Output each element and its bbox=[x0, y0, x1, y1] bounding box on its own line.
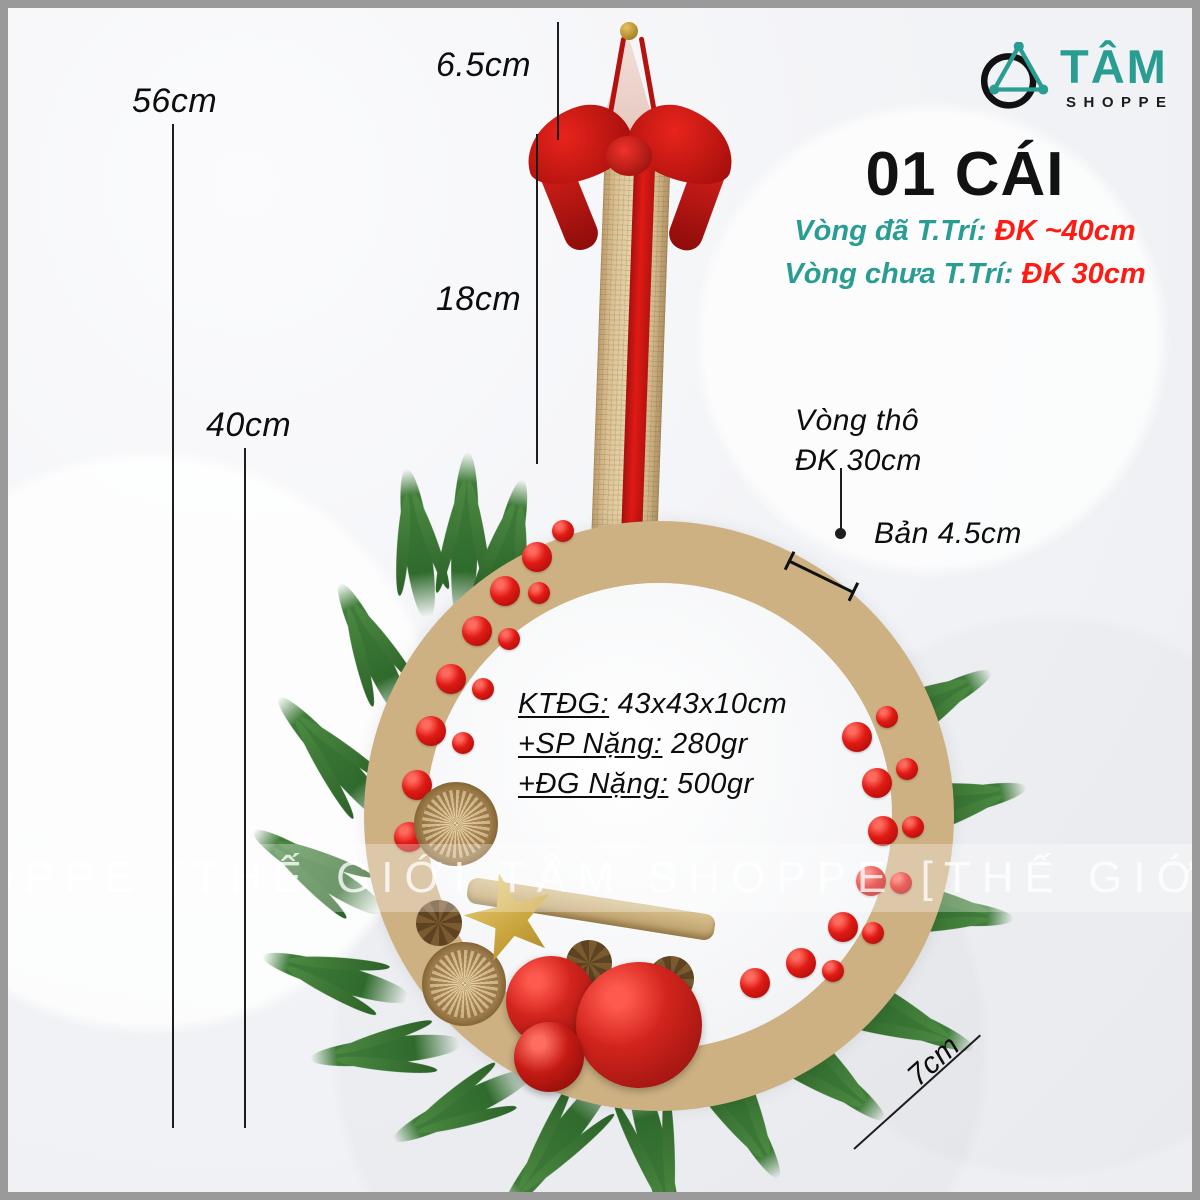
spec-key-product-weight: +SP Nặng: bbox=[518, 728, 663, 760]
spec-decorated-ring: Vòng đã T.Trí: ĐK ~40cm bbox=[730, 210, 1200, 253]
label-wreath-diameter: 40cm bbox=[206, 406, 291, 445]
foliage-sprig bbox=[388, 1062, 534, 1151]
measure-line-wreath-diameter bbox=[244, 448, 246, 1128]
label-total-height: 56cm bbox=[132, 82, 217, 121]
spec-key-dimensions: KTĐG: bbox=[518, 688, 609, 720]
berry bbox=[862, 922, 884, 944]
measure-line-total-height bbox=[172, 124, 174, 1128]
berry bbox=[472, 678, 494, 700]
berry bbox=[822, 960, 844, 982]
berry bbox=[868, 816, 898, 846]
red-bauble-large bbox=[576, 962, 702, 1088]
spec-row-package-weight: +ĐG Nặng: 500gr bbox=[518, 764, 787, 804]
watermark-text: SHOPPE [THẾ GIỚI TÂM SHOPPE [THẾ GIỚI Đ bbox=[8, 853, 1200, 903]
product-image-canvas: SHOPPE [THẾ GIỚI TÂM SHOPPE [THẾ GIỚI Đ … bbox=[0, 0, 1200, 1200]
berry bbox=[462, 616, 492, 646]
berry bbox=[552, 520, 574, 542]
callout-raw-ring-line1: Vòng thô bbox=[795, 401, 922, 441]
berry bbox=[452, 732, 474, 754]
spec-val-product-weight: 280gr bbox=[663, 728, 748, 760]
spec-row-dimensions: KTĐG: 43x43x10cm bbox=[518, 684, 787, 724]
spec-key-package-weight: +ĐG Nặng: bbox=[518, 768, 668, 800]
foliage-sprig bbox=[394, 467, 441, 619]
spec-decorated-ring-value: ĐK ~40cm bbox=[995, 215, 1136, 247]
brand-logo: TÂM SHOPPE bbox=[974, 36, 1189, 128]
berry bbox=[786, 948, 816, 978]
headline-block: 01 CÁI Vòng đã T.Trí: ĐK ~40cm Vòng chưa… bbox=[730, 140, 1200, 296]
label-hanger-width: 6.5cm bbox=[436, 46, 531, 85]
berry bbox=[490, 576, 520, 606]
measure-line-hanger-width bbox=[557, 22, 559, 140]
berry bbox=[436, 664, 466, 694]
berry bbox=[528, 582, 550, 604]
spec-plain-ring-label: Vòng chưa T.Trí: bbox=[784, 258, 1013, 290]
spec-plain-ring: Vòng chưa T.Trí: ĐK 30cm bbox=[730, 253, 1200, 296]
foliage-sprig bbox=[309, 1030, 461, 1072]
bow-knot bbox=[606, 136, 652, 176]
berry bbox=[862, 768, 892, 798]
callout-band-width: Bản 4.5cm bbox=[874, 517, 1022, 551]
berry bbox=[842, 722, 872, 752]
measure-line-hanger-height bbox=[536, 134, 538, 464]
berry bbox=[522, 542, 552, 572]
callout-leader-dot bbox=[835, 528, 846, 539]
red-bauble-small bbox=[514, 1022, 584, 1092]
berry bbox=[740, 968, 770, 998]
pine-cone bbox=[422, 942, 506, 1026]
spec-plain-ring-value: ĐK 30cm bbox=[1022, 258, 1146, 290]
berry bbox=[828, 912, 858, 942]
watermark-band: SHOPPE [THẾ GIỚI TÂM SHOPPE [THẾ GIỚI Đ bbox=[8, 844, 1200, 912]
gold-bead bbox=[620, 22, 638, 40]
berry bbox=[416, 716, 446, 746]
spec-block: KTĐG: 43x43x10cm +SP Nặng: 280gr +ĐG Nặn… bbox=[518, 684, 787, 804]
brand-tagline: SHOPPE bbox=[1066, 94, 1174, 111]
berry bbox=[902, 816, 924, 838]
callout-raw-ring-line2: ĐK 30cm bbox=[795, 441, 922, 481]
berry bbox=[498, 628, 520, 650]
foliage-sprig bbox=[259, 944, 410, 1010]
spec-decorated-ring-label: Vòng đã T.Trí: bbox=[794, 215, 986, 247]
berry bbox=[896, 758, 918, 780]
spec-val-dimensions: 43x43x10cm bbox=[609, 688, 787, 720]
spec-val-package-weight: 500gr bbox=[668, 768, 753, 800]
circle-triangle-logo-icon bbox=[974, 42, 1052, 114]
brand-name: TÂM bbox=[1060, 42, 1168, 92]
spec-row-product-weight: +SP Nặng: 280gr bbox=[518, 724, 787, 764]
callout-raw-ring: Vòng thô ĐK 30cm bbox=[795, 401, 922, 481]
label-hanger-height: 18cm bbox=[436, 280, 521, 319]
quantity-title: 01 CÁI bbox=[730, 140, 1200, 210]
berry bbox=[876, 706, 898, 728]
